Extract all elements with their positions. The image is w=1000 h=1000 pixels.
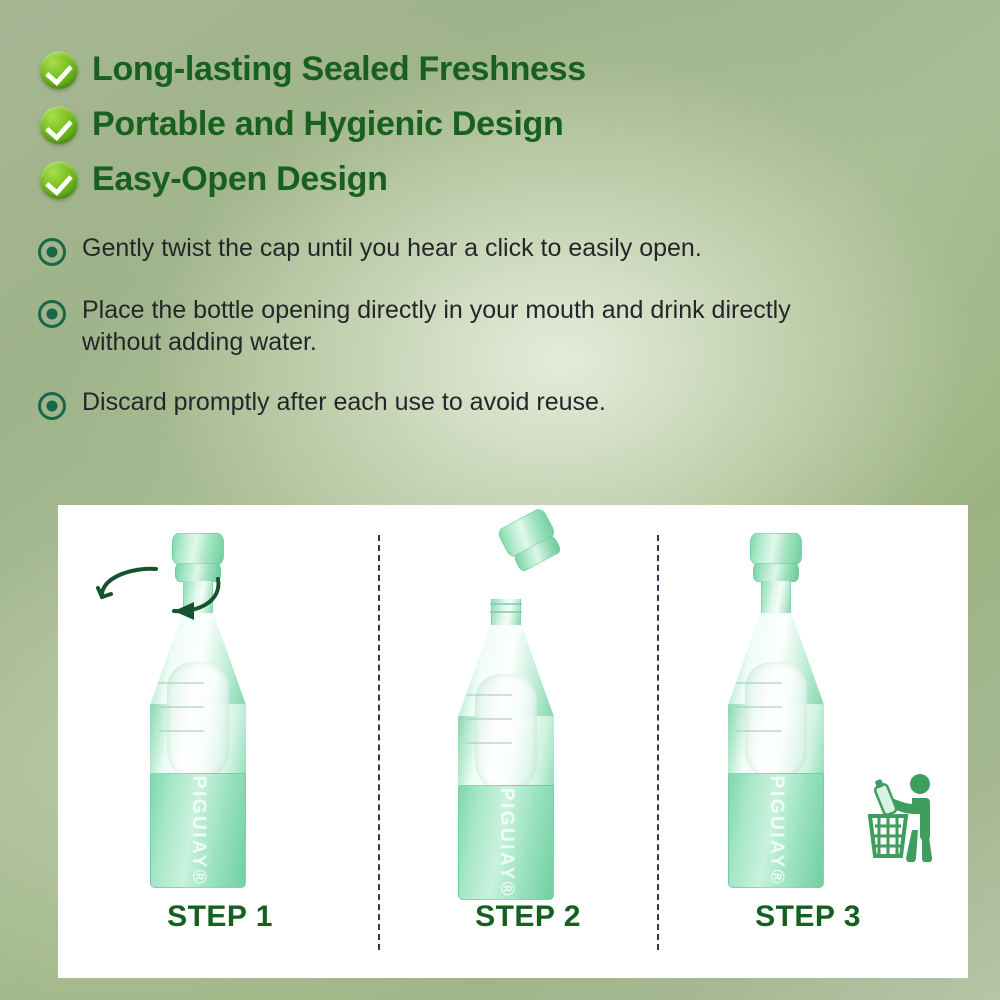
instruction-item: Discard promptly after each use to avoid… <box>38 386 858 420</box>
instruction-text: Gently twist the cap until you hear a cl… <box>82 232 702 264</box>
step-1-illustration: PIGUIAY® <box>70 505 370 900</box>
pouch-line <box>466 742 512 744</box>
step-label: STEP 3 <box>658 900 958 934</box>
check-circle-icon <box>40 106 78 144</box>
pouch-line <box>466 718 512 720</box>
bottle-base: PIGUIAY® <box>728 773 824 888</box>
bottle-inner-pouch <box>475 674 537 792</box>
bottle-base: PIGUIAY® <box>458 785 554 900</box>
instruction-item: Place the bottle opening directly in you… <box>38 294 858 358</box>
steps-panel: PIGUIAY® STEP 1 <box>58 505 968 978</box>
instruction-text: Place the bottle opening directly in you… <box>82 294 842 358</box>
bottle-base: PIGUIAY® <box>150 773 246 888</box>
bottle-inner-pouch <box>167 662 229 780</box>
trash-disposal-icon <box>862 770 954 862</box>
step-3-illustration: PIGUIAY® <box>658 505 958 900</box>
rotate-arrow-icon <box>90 563 230 627</box>
step-1-cell: PIGUIAY® STEP 1 <box>70 505 370 978</box>
check-circle-icon <box>40 161 78 199</box>
ring-bullet-icon <box>38 238 66 266</box>
bottle-cap-top <box>750 533 802 565</box>
product-infographic: Long-lasting Sealed Freshness Portable a… <box>0 0 1000 1000</box>
ring-bullet-icon <box>38 392 66 420</box>
brand-label: PIGUIAY® <box>765 775 787 885</box>
feature-label: Long-lasting Sealed Freshness <box>92 50 586 89</box>
bottle-cap-ring <box>753 563 799 582</box>
brand-label: PIGUIAY® <box>187 775 209 885</box>
step-2-cell: PIGUIAY® STEP 2 <box>378 505 678 978</box>
bottle-inner-pouch <box>745 662 807 780</box>
bottle-neck <box>761 581 791 615</box>
feature-item: Long-lasting Sealed Freshness <box>40 42 800 97</box>
step-3-cell: PIGUIAY® ST <box>658 505 958 978</box>
check-circle-icon <box>40 51 78 89</box>
bottle-cap-top <box>172 533 224 565</box>
neck-thread <box>490 603 522 605</box>
pouch-line <box>158 682 204 684</box>
pouch-line <box>736 706 782 708</box>
instruction-list: Gently twist the cap until you hear a cl… <box>38 232 858 448</box>
brand-label: PIGUIAY® <box>495 787 517 897</box>
instruction-item: Gently twist the cap until you hear a cl… <box>38 232 858 266</box>
pouch-line <box>466 694 512 696</box>
instruction-text: Discard promptly after each use to avoid… <box>82 386 606 418</box>
feature-list: Long-lasting Sealed Freshness Portable a… <box>40 42 800 207</box>
ring-bullet-icon <box>38 300 66 328</box>
feature-label: Easy-Open Design <box>92 160 388 199</box>
feature-label: Portable and Hygienic Design <box>92 105 564 144</box>
pouch-line <box>736 682 782 684</box>
feature-item: Easy-Open Design <box>40 152 800 207</box>
neck-thread <box>490 611 522 613</box>
pouch-line <box>158 706 204 708</box>
step-label: STEP 1 <box>70 900 370 934</box>
step-label: STEP 2 <box>378 900 678 934</box>
pouch-line <box>158 730 204 732</box>
feature-item: Portable and Hygienic Design <box>40 97 800 152</box>
pouch-line <box>736 730 782 732</box>
step-2-illustration: PIGUIAY® <box>378 505 678 900</box>
